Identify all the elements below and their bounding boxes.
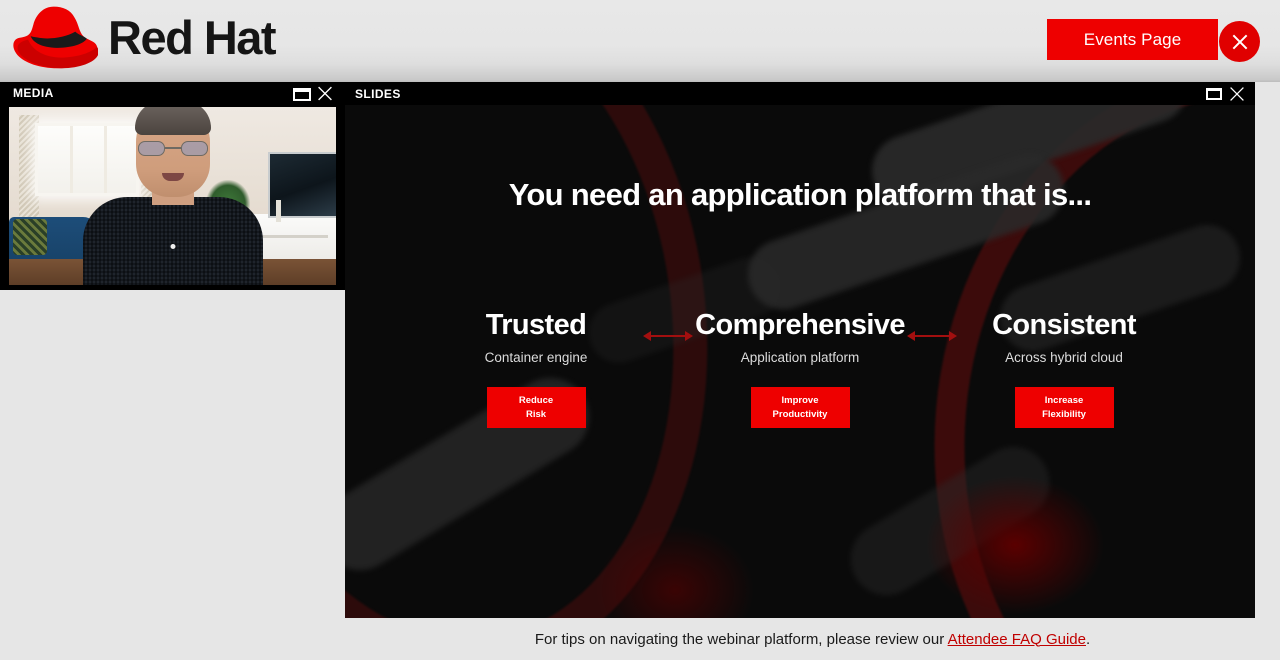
decorative-pill	[837, 433, 1063, 608]
webcam-scene	[9, 107, 336, 285]
media-panel-title: MEDIA	[13, 86, 54, 100]
media-panel-titlebar: MEDIA	[0, 82, 345, 105]
candle	[276, 200, 281, 222]
footer-bar: For tips on navigating the webinar platf…	[345, 618, 1280, 660]
events-page-button[interactable]: Events Page	[1047, 19, 1218, 60]
close-x-button[interactable]	[1219, 21, 1260, 62]
button-line-1: Reduce	[519, 395, 553, 406]
connector-arrow-icon	[642, 329, 694, 343]
restore-window-icon[interactable]	[1206, 88, 1222, 100]
button-line-2: Productivity	[773, 409, 828, 420]
sideboard-detail	[262, 235, 328, 238]
decorative-pill	[739, 145, 1074, 319]
button-line-2: Risk	[526, 409, 546, 420]
media-panel: MEDIA	[0, 82, 345, 290]
close-icon[interactable]	[1229, 86, 1245, 102]
presentation-slide[interactable]: You need an application platform that is…	[345, 105, 1255, 618]
decorative-red-glow	[925, 475, 1105, 615]
brand-name: Red Hat	[108, 14, 275, 61]
close-x-icon	[1227, 29, 1253, 55]
red-hat-logo: Red Hat	[8, 4, 275, 70]
button-line-2: Flexibility	[1042, 409, 1086, 420]
speaker-torso	[83, 197, 263, 285]
pillow	[13, 219, 47, 255]
page-header: Red Hat Events Page	[0, 0, 1280, 82]
column-title: Comprehensive	[694, 310, 906, 342]
shirt-button	[170, 244, 175, 249]
media-video-feed[interactable]	[9, 107, 336, 285]
decorative-red-glow	[595, 525, 755, 618]
slide-column-trusted: Trusted Container engine Reduce Risk	[430, 310, 642, 428]
column-title: Consistent	[958, 310, 1170, 342]
slide-columns: Trusted Container engine Reduce Risk Com…	[345, 310, 1255, 428]
footer-text-before: For tips on navigating the webinar platf…	[535, 631, 948, 648]
column-subtitle: Across hybrid cloud	[958, 350, 1170, 365]
footer-text-after: .	[1086, 631, 1090, 648]
close-icon[interactable]	[317, 85, 333, 102]
button-line-1: Increase	[1045, 395, 1084, 406]
column-title: Trusted	[430, 310, 642, 342]
connector-arrow-icon	[906, 329, 958, 343]
red-hat-fedora-icon	[8, 4, 98, 70]
slides-panel-title: SLIDES	[355, 87, 401, 101]
speaker-glasses	[138, 141, 208, 157]
slide-column-comprehensive: Comprehensive Application platform Impro…	[694, 310, 906, 428]
speaker-hair	[135, 107, 211, 135]
increase-flexibility-button[interactable]: Increase Flexibility	[1015, 387, 1114, 429]
footer-tip-text: For tips on navigating the webinar platf…	[535, 631, 1090, 648]
improve-productivity-button[interactable]: Improve Productivity	[751, 387, 850, 429]
column-subtitle: Application platform	[694, 350, 906, 365]
window	[35, 123, 139, 196]
column-subtitle: Container engine	[430, 350, 642, 365]
attendee-faq-guide-link[interactable]: Attendee FAQ Guide	[948, 631, 1086, 648]
slide-headline: You need an application platform that is…	[345, 177, 1255, 213]
slides-panel: SLIDES You need an application platform …	[345, 82, 1255, 618]
slides-panel-titlebar: SLIDES	[345, 82, 1255, 105]
button-line-1: Improve	[782, 395, 819, 406]
slide-column-consistent: Consistent Across hybrid cloud Increase …	[958, 310, 1170, 428]
reduce-risk-button[interactable]: Reduce Risk	[487, 387, 586, 429]
restore-window-icon[interactable]	[293, 88, 311, 101]
